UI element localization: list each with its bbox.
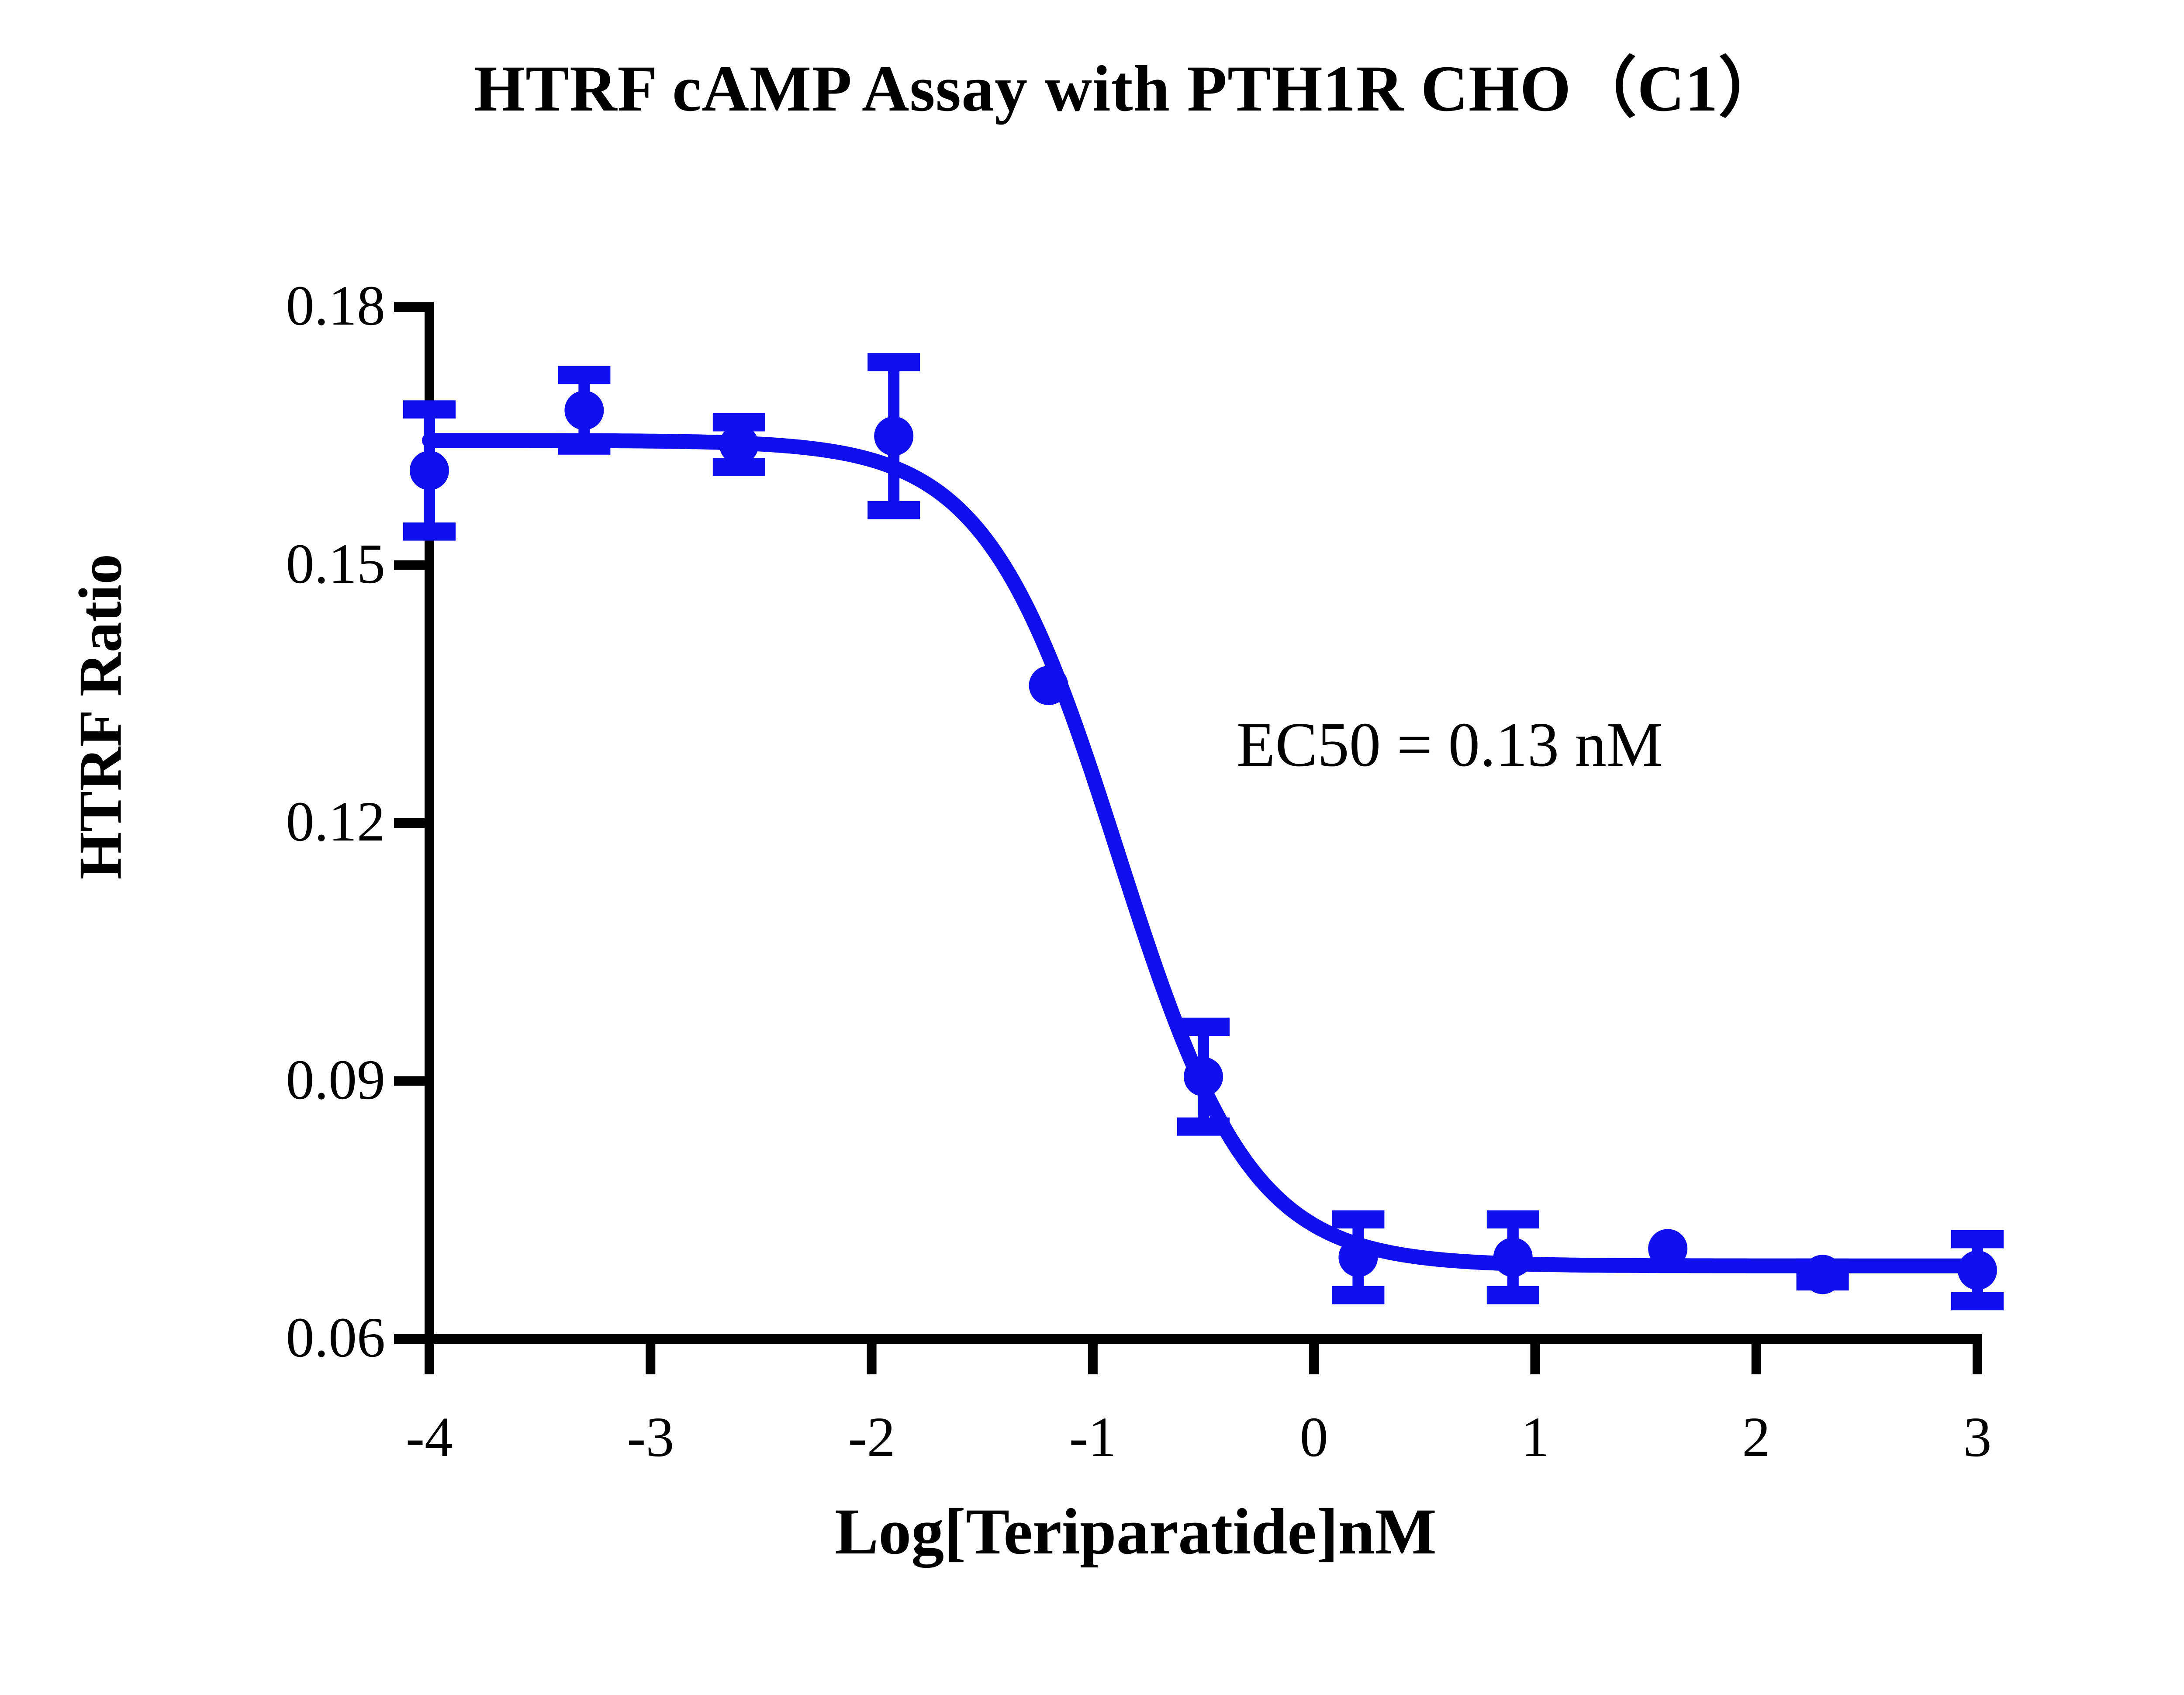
error-bar-cap-upper — [1332, 1211, 1384, 1229]
error-bar-cap-upper — [403, 400, 456, 419]
y-tick-label: 0.15 — [158, 536, 385, 592]
plot-area: 0.180.150.120.090.06 -4-3-2-10123 — [0, 0, 2184, 1695]
x-tick-label: -3 — [585, 1409, 716, 1466]
x-tick-mark — [1752, 1344, 1761, 1374]
y-tick-mark — [394, 1334, 425, 1344]
error-bar-cap-upper — [1487, 1211, 1539, 1229]
y-tick-label: 0.09 — [158, 1052, 385, 1108]
data-point-marker[interactable] — [1029, 666, 1068, 705]
error-bar-cap-lower — [1487, 1286, 1539, 1304]
x-tick-mark — [1973, 1344, 1982, 1374]
data-point-marker[interactable] — [1184, 1057, 1223, 1097]
data-point-marker[interactable] — [874, 416, 913, 456]
data-point-marker[interactable] — [1958, 1251, 1997, 1290]
x-tick-label: 2 — [1691, 1409, 1822, 1466]
x-tick-label: 1 — [1469, 1409, 1600, 1466]
x-tick-mark — [1088, 1344, 1098, 1374]
y-tick-mark — [394, 818, 425, 828]
error-bar-cap-upper — [558, 366, 610, 384]
data-point-marker[interactable] — [1803, 1255, 1842, 1294]
axes-group — [394, 302, 1982, 1374]
y-tick-mark — [394, 1076, 425, 1086]
data-points[interactable] — [410, 391, 1997, 1294]
data-point-marker[interactable] — [564, 391, 604, 430]
data-point-marker[interactable] — [1648, 1229, 1687, 1268]
error-bar-cap-lower — [1951, 1292, 2004, 1311]
error-bar-cap-lower — [867, 501, 920, 519]
error-bar-cap-lower — [558, 436, 610, 455]
x-tick-label: 3 — [1912, 1409, 2043, 1466]
fit-curve-line — [429, 440, 1977, 1266]
error-bar-cap-lower — [403, 522, 456, 541]
x-tick-label: -1 — [1027, 1409, 1158, 1466]
x-tick-mark — [646, 1344, 655, 1374]
y-tick-label: 0.06 — [158, 1309, 385, 1366]
y-tick-mark — [394, 560, 425, 570]
data-point-marker[interactable] — [719, 425, 759, 464]
error-bar-cap-upper — [867, 353, 920, 371]
x-tick-mark — [1309, 1344, 1319, 1374]
y-tick-label: 0.12 — [158, 793, 385, 850]
x-axis-line — [425, 1334, 1982, 1344]
fit-curve — [429, 440, 1977, 1266]
error-bar-cap-lower — [1332, 1286, 1384, 1304]
x-tick-label: -4 — [364, 1409, 495, 1466]
x-tick-label: -2 — [806, 1409, 937, 1466]
error-bar-cap-upper — [1951, 1230, 2004, 1249]
data-point-marker[interactable] — [1338, 1238, 1378, 1277]
data-point-marker[interactable] — [1493, 1238, 1533, 1277]
error-bar-cap-lower — [1177, 1117, 1230, 1136]
y-tick-mark — [394, 302, 425, 312]
x-tick-mark — [867, 1344, 877, 1374]
x-tick-label: 0 — [1248, 1409, 1379, 1466]
chart-root: HTRF cAMP Assay with PTH1R CHO（C1） HTRF … — [0, 0, 2184, 1695]
y-tick-label: 0.18 — [158, 277, 385, 334]
error-bar-cap-upper — [1177, 1018, 1230, 1036]
data-point-marker[interactable] — [410, 451, 449, 490]
error-bars — [403, 353, 2004, 1310]
x-tick-mark — [1530, 1344, 1540, 1374]
x-tick-mark — [425, 1344, 434, 1374]
